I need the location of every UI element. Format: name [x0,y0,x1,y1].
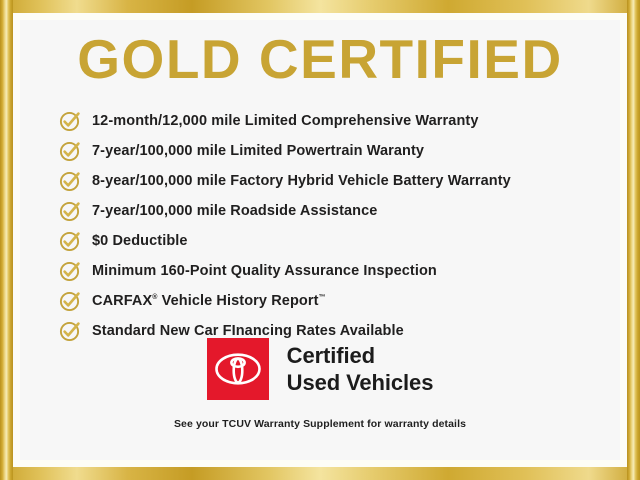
gold-certified-certificate: GOLD CERTIFIED 12-month/12,000 mile Limi… [0,0,640,480]
carfax-report-label: Vehicle History Report [157,293,318,309]
list-item: 8-year/100,000 mile Factory Hybrid Vehic… [58,166,610,196]
check-circle-icon [58,289,82,313]
page-title: GOLD CERTIFIED [20,28,620,90]
list-item-label: 7-year/100,000 mile Roadside Assistance [92,203,377,219]
carfax-wordmark: CARFAX [92,293,152,309]
lockup-text: Certified Used Vehicles [287,342,434,396]
list-item: Minimum 160-Point Quality Assurance Insp… [58,256,610,286]
benefits-list: 12-month/12,000 mile Limited Comprehensi… [58,106,610,346]
lockup-line-1: Certified [287,342,434,369]
check-circle-icon [58,139,82,163]
list-item-label: $0 Deductible [92,233,188,249]
list-item: CARFAX® Vehicle History Report™ [58,286,610,316]
list-item-label: 12-month/12,000 mile Limited Comprehensi… [92,113,479,129]
check-circle-icon [58,199,82,223]
lockup-line-2: Used Vehicles [287,369,434,396]
list-item: 7-year/100,000 mile Limited Powertrain W… [58,136,610,166]
list-item-label: CARFAX® Vehicle History Report™ [92,293,326,309]
list-item-label: Minimum 160-Point Quality Assurance Insp… [92,263,437,279]
toyota-certified-lockup: Certified Used Vehicles [20,338,620,400]
check-circle-icon [58,259,82,283]
certificate-panel: GOLD CERTIFIED 12-month/12,000 mile Limi… [20,20,620,460]
toyota-emblem-icon [214,352,262,386]
trademark-mark: ™ [319,294,326,301]
list-item: 7-year/100,000 mile Roadside Assistance [58,196,610,226]
frame-border-right [627,0,640,480]
frame-border-bottom [0,467,640,480]
frame-border-top [0,0,640,13]
list-item-label: Standard New Car FInancing Rates Availab… [92,323,404,339]
list-item-label: 8-year/100,000 mile Factory Hybrid Vehic… [92,173,511,189]
check-circle-icon [58,169,82,193]
toyota-logo [207,338,269,400]
list-item-label: 7-year/100,000 mile Limited Powertrain W… [92,143,424,159]
check-circle-icon [58,229,82,253]
check-circle-icon [58,109,82,133]
frame-border-left [0,0,13,480]
footer-disclaimer: See your TCUV Warranty Supplement for wa… [20,418,620,430]
list-item: $0 Deductible [58,226,610,256]
list-item: 12-month/12,000 mile Limited Comprehensi… [58,106,610,136]
